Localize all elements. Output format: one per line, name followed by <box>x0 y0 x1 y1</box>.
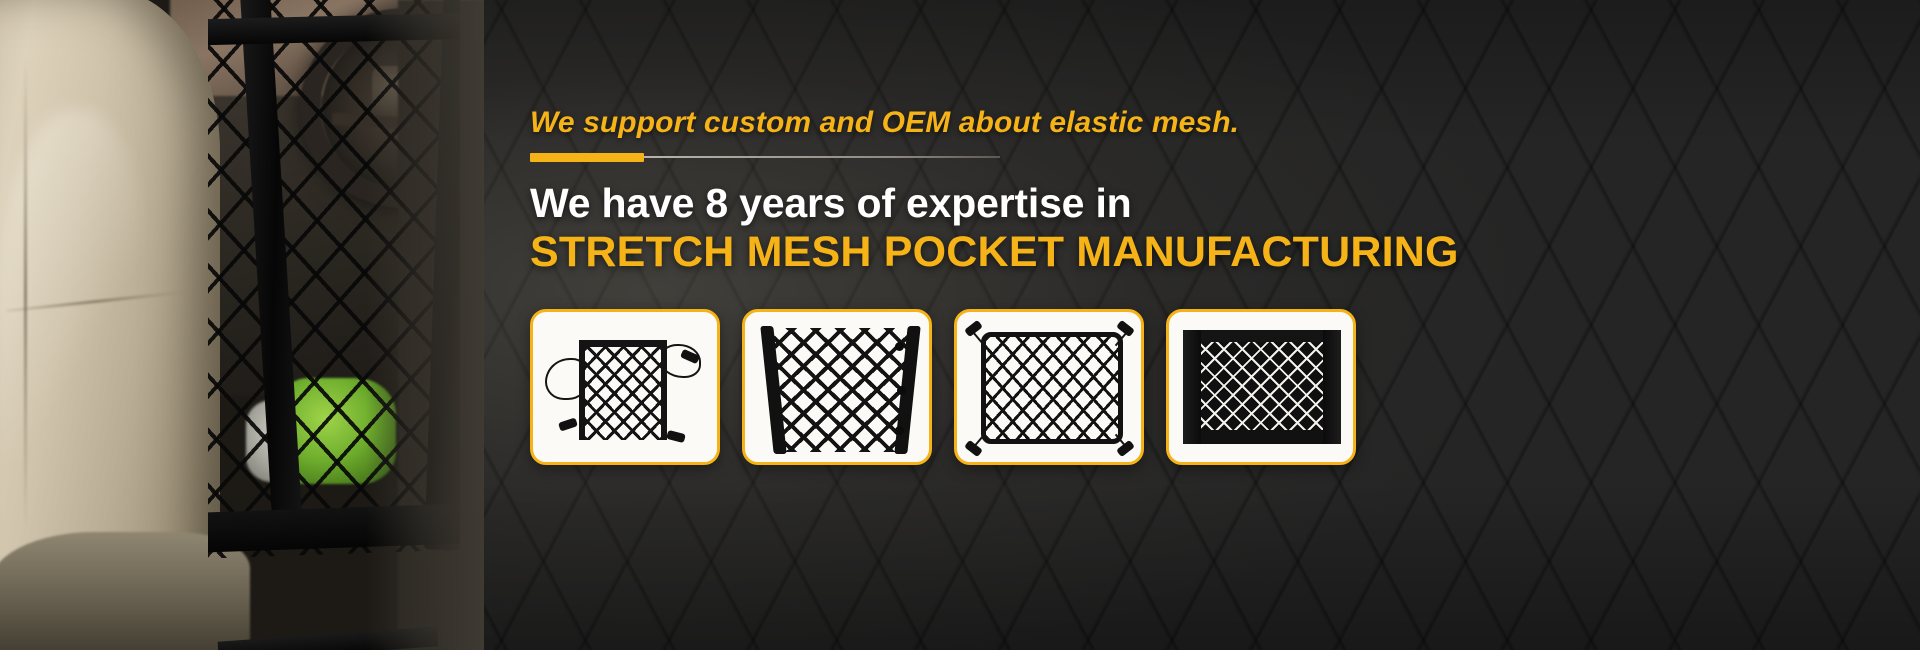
product-image-double-layer-mesh-bag <box>1169 312 1353 462</box>
product-image-mesh-pocket-drawstring <box>533 312 717 462</box>
mesh-body <box>767 328 913 452</box>
divider-thin-line <box>644 156 1000 158</box>
product-card-4[interactable] <box>1166 309 1356 465</box>
mesh-edge-top <box>1185 330 1339 342</box>
mesh-edge-bottom <box>1185 430 1339 444</box>
hook-icon <box>666 430 686 443</box>
product-image-corner-hook-cargo-net <box>957 312 1141 462</box>
grommet-icon <box>895 426 904 435</box>
mesh-edge-left <box>1183 330 1201 444</box>
product-card-3[interactable] <box>954 309 1144 465</box>
product-card-1[interactable] <box>530 309 720 465</box>
product-image-trapezoid-cargo-net <box>745 312 929 462</box>
hook-icon <box>1116 440 1135 458</box>
grommet-icon <box>897 386 906 395</box>
mesh-body <box>981 332 1123 444</box>
product-card-list <box>530 309 1356 465</box>
headline-secondary: STRETCH MESH POCKET MANUFACTURING <box>530 228 1459 277</box>
mesh-edge-right <box>1323 330 1341 444</box>
seat-seam <box>24 60 27 530</box>
hook-icon <box>964 440 983 458</box>
car-interior-photo <box>0 0 484 650</box>
headline-primary: We have 8 years of expertise in <box>530 180 1132 227</box>
divider <box>530 153 1000 162</box>
product-card-2[interactable] <box>742 309 932 465</box>
banner-content: We support custom and OEM about elastic … <box>530 0 1920 650</box>
tagline-text: We support custom and OEM about elastic … <box>530 106 1239 140</box>
mesh-body <box>579 340 667 440</box>
hook-icon <box>558 417 578 431</box>
grommet-icon <box>895 342 904 351</box>
promo-banner: We support custom and OEM about elastic … <box>0 0 1920 650</box>
photo-gradient-fade <box>366 0 484 650</box>
divider-accent-bar <box>530 153 644 162</box>
mesh-body <box>1199 336 1325 436</box>
